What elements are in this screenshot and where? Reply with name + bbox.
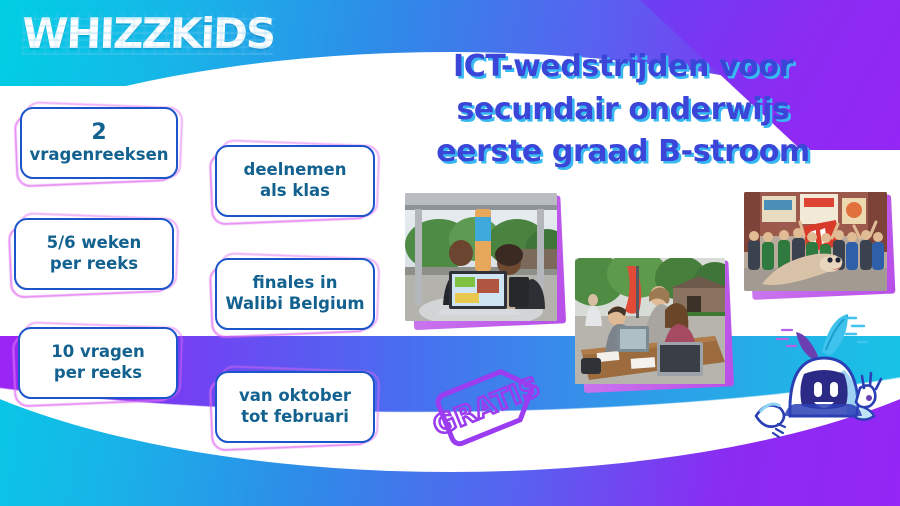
photo-image [575,258,725,384]
fact-card-weken-per-reeks[interactable]: 5/6 weken per reeks [14,218,174,290]
page-title-line-1: ICT-wedstrijden voor [408,46,838,89]
fact-card-periode[interactable]: van oktober tot februari [215,371,375,443]
card-body: deelnemen als klas [215,145,375,217]
logo-text-whizz: WHIZZ [21,13,170,55]
page-title: ICT-wedstrijden voor secundair onderwijs… [408,46,838,174]
robot-mascot-icon [748,312,898,452]
slide-canvas: WHIZZKiDS ICT-wedstrijden voor secundair… [0,0,900,506]
photo-frame [575,258,725,384]
fact-label-line-2: tot februari [241,407,349,428]
card-body: 10 vragen per reeks [18,327,178,399]
page-title-line-3: eerste graad B-stroom [408,131,838,174]
whizzkids-mascot [748,312,898,452]
card-body: 5/6 weken per reeks [14,218,174,290]
fact-label-line-1: deelnemen [244,160,347,181]
card-body: 2 vragenreeksen [20,107,178,179]
card-body: finales in Walibi Belgium [215,258,375,330]
logo-text-kids: KiDS [169,13,275,55]
photo-image [405,193,557,321]
fact-label-line-2: als klas [260,181,330,202]
page-title-line-2: secundair onderwijs [408,89,838,132]
fact-value: 2 [91,121,106,145]
fact-label-line-2: per reeks [50,254,138,275]
photo-students-laptop-tent [405,193,557,321]
fact-label-line-1: 5/6 weken [47,233,142,254]
photo-frame [744,192,887,291]
fact-label-line-1: van oktober [239,386,351,407]
gratis-tag-icon: GRATIS [430,352,550,452]
fact-card-deelnemen-als-klas[interactable]: deelnemen als klas [215,145,375,217]
whizzkids-logo: WHIZZKiDS [21,13,275,55]
card-body: van oktober tot februari [215,371,375,443]
photo-frame [405,193,557,321]
fact-card-vragenreeksen[interactable]: 2 vragenreeksen [20,107,178,179]
fact-label-line-1: 10 vragen [51,342,144,363]
fact-card-vragen-per-reeks[interactable]: 10 vragen per reeks [18,327,178,399]
photo-students-teacher-outdoor [575,258,725,384]
fact-label-line-1: finales in [253,273,338,294]
fact-label-line-2: Walibi Belgium [225,294,364,315]
photo-image [744,192,887,291]
fact-label-line-2: per reeks [54,363,142,384]
fact-label: vragenreeksen [29,145,168,166]
photo-group-winners-walibi [744,192,887,291]
gratis-badge: GRATIS [430,352,550,452]
fact-card-finales-walibi[interactable]: finales in Walibi Belgium [215,258,375,330]
